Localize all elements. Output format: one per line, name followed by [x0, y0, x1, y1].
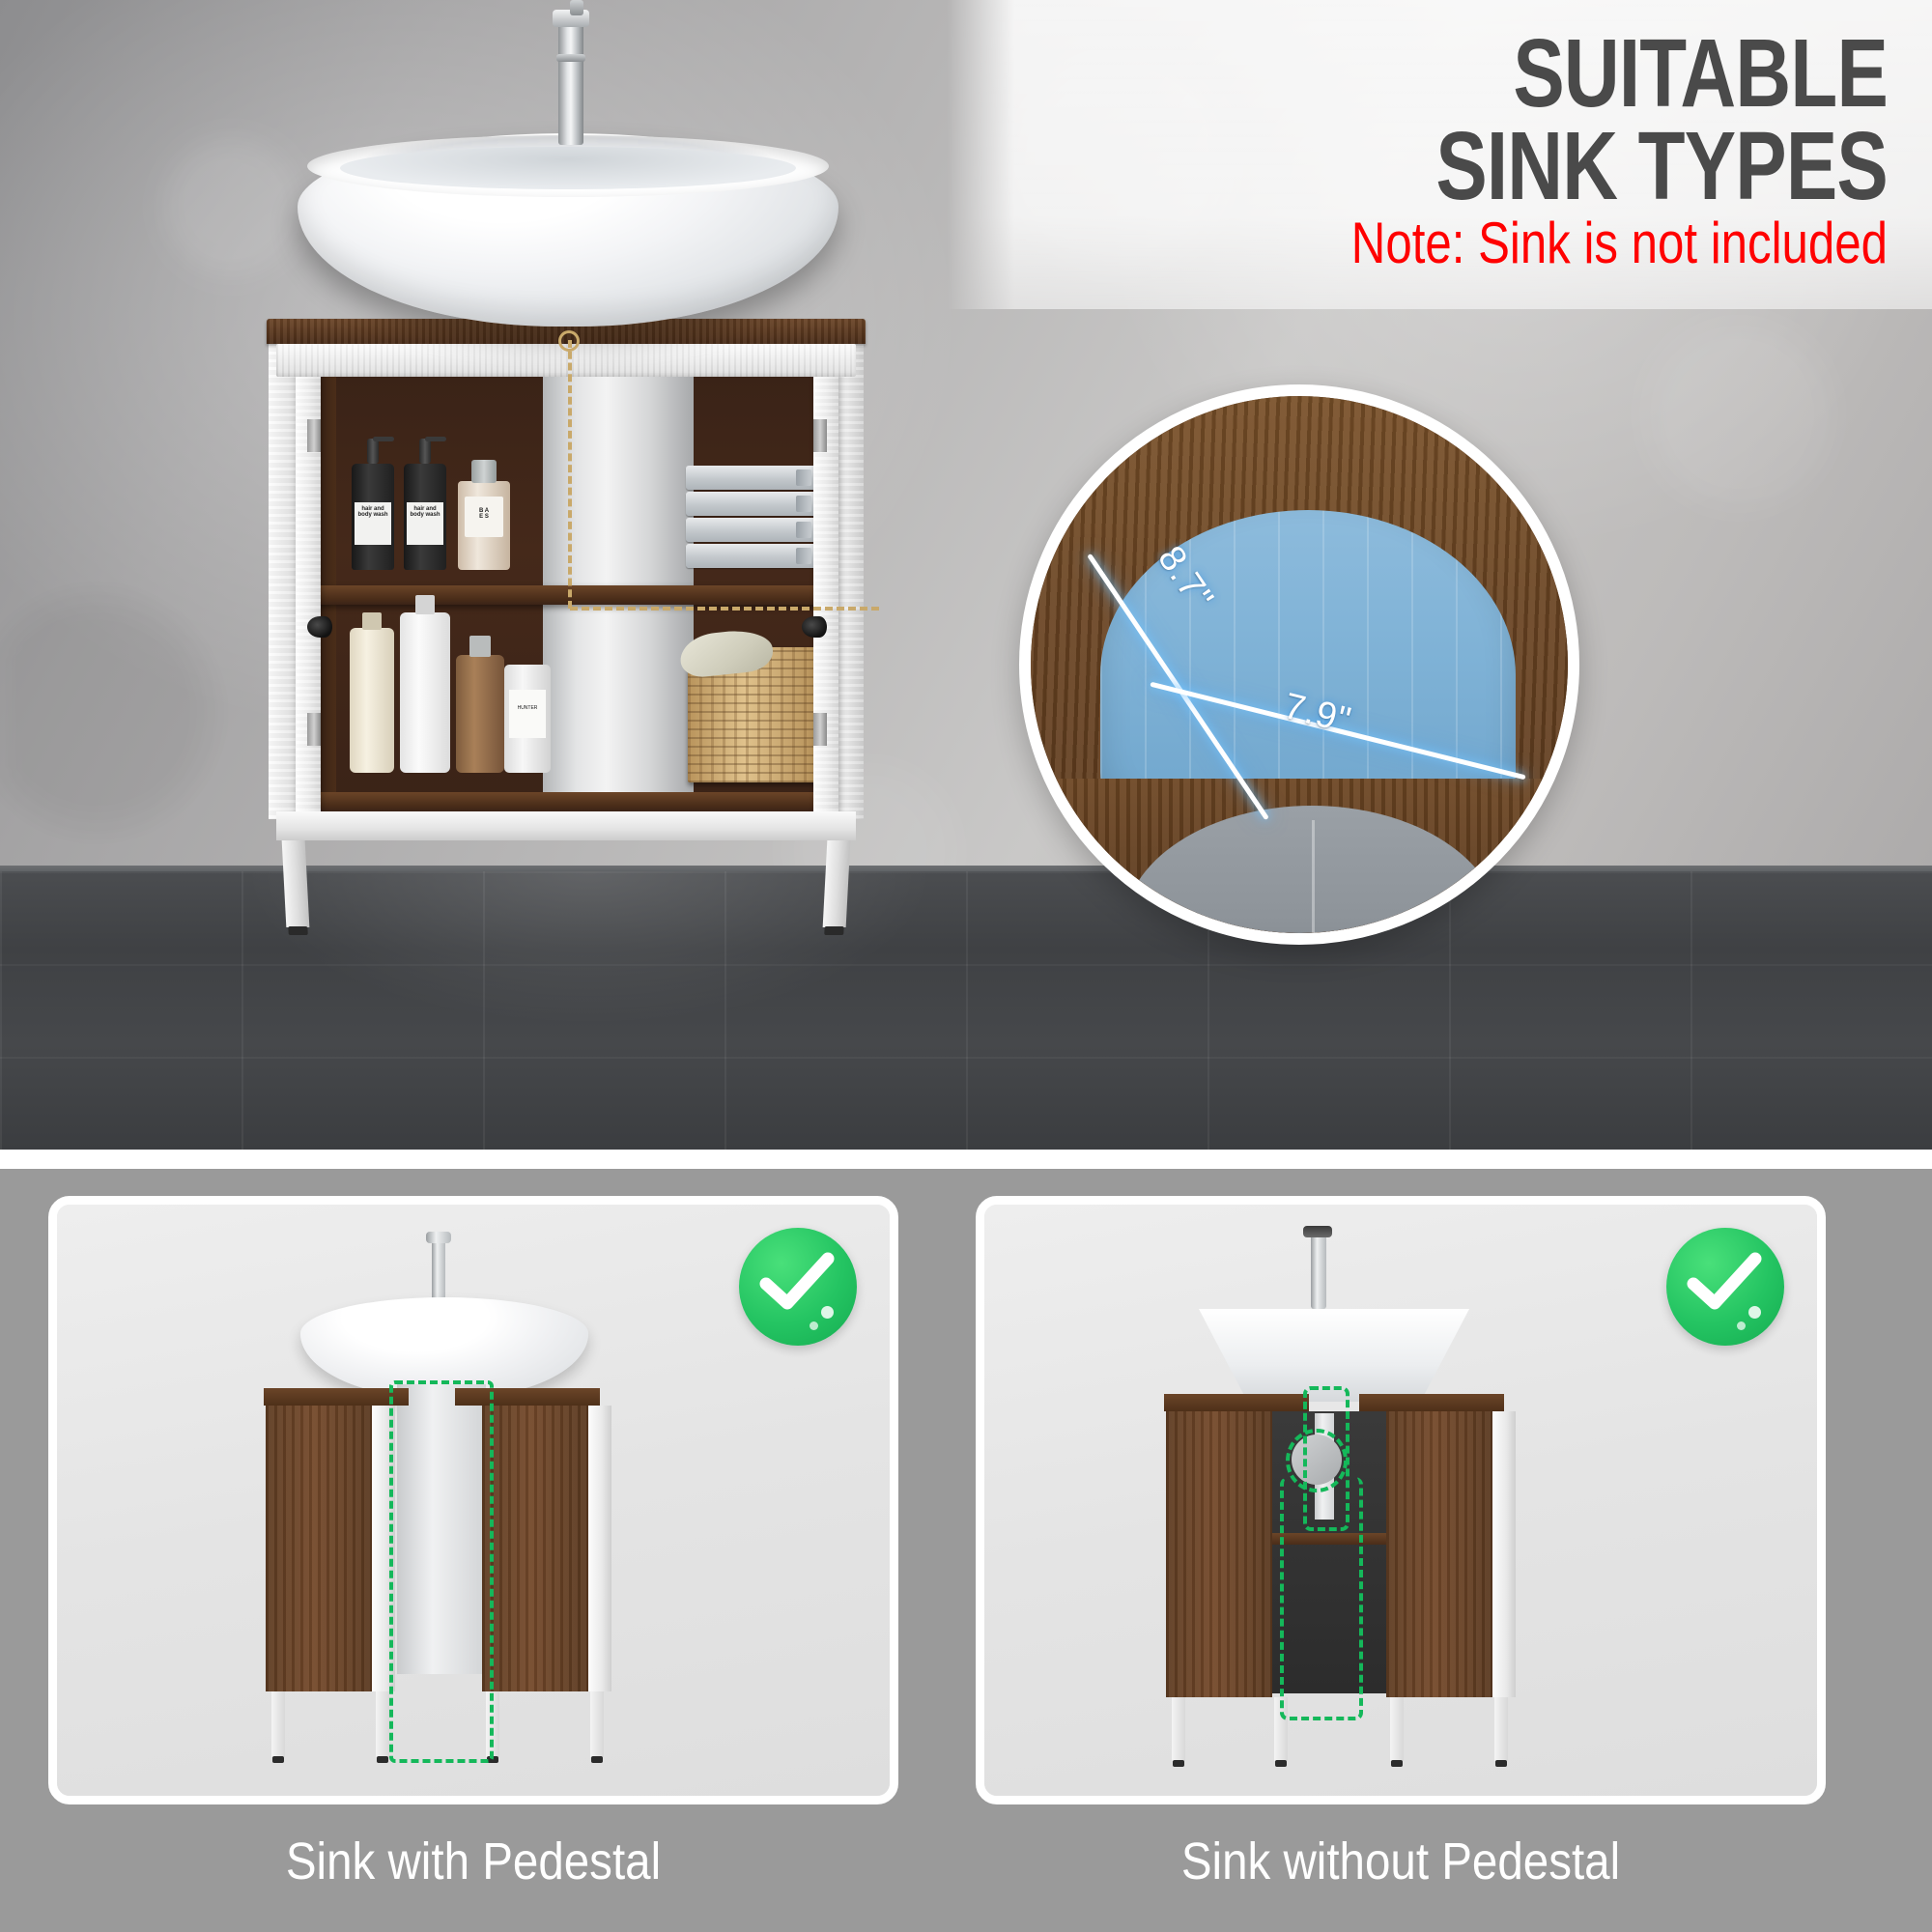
- bottle-hunter-2: [400, 612, 450, 773]
- towel-1: [686, 466, 819, 490]
- page-title: SUITABLE SINK TYPES: [1161, 27, 1888, 213]
- cabinet-door-left[interactable]: [296, 369, 321, 819]
- mini-door-left-left[interactable]: [266, 1406, 372, 1691]
- bottle-label-1: hair andbody wash: [355, 502, 391, 545]
- badge-dot-large-right: [1748, 1306, 1761, 1319]
- mini-leg-1-right: [1172, 1697, 1185, 1761]
- bottle-hunter-3: HUNTER: [504, 665, 551, 773]
- pump-head-2: [419, 439, 431, 464]
- mini-top-left-right: [1164, 1394, 1309, 1411]
- bottle-brown-lotion: [456, 655, 504, 773]
- bottle-hunter-1: [350, 628, 394, 773]
- title-line-1: SUITABLE: [1161, 27, 1888, 120]
- callout-clip: 8.7" 7.9": [1031, 396, 1568, 933]
- guide-line-vertical: [568, 340, 572, 609]
- faucet-ring: [556, 54, 585, 62]
- mini-leg-4-right: [1494, 1697, 1508, 1761]
- towel-4: [686, 544, 819, 568]
- faucet-handle[interactable]: [570, 0, 583, 15]
- mini-leg-1-left: [271, 1691, 285, 1757]
- mini-top-left-left: [264, 1388, 409, 1406]
- panel-sink-without-pedestal: [976, 1196, 1826, 1804]
- status-badge-check-right: [1666, 1228, 1784, 1346]
- hinge-right-top: [813, 419, 827, 452]
- comparison-section: Sink with Pedestal Sink without Pedestal: [0, 1159, 1932, 1932]
- middle-shelf: [303, 585, 829, 605]
- bottle-cap-3: [469, 636, 491, 657]
- candle-jar-label: B AE S: [465, 497, 503, 537]
- infographic-canvas: SUITABLE SINK TYPES Note: Sink is not in…: [0, 0, 1932, 1932]
- faucet-column: [558, 21, 583, 145]
- door-knob-left[interactable]: [307, 616, 332, 638]
- cabinet-interior: hair andbody wash hair andbody wash B AE…: [303, 375, 829, 811]
- vessel-sink-basin: [340, 147, 796, 189]
- caption-sink-without-pedestal: Sink without Pedestal: [1027, 1835, 1775, 1888]
- towel-2: [686, 492, 819, 516]
- bottle-label-2: hair andbody wash: [407, 502, 443, 545]
- disclaimer-note: Note: Sink is not included: [1143, 214, 1888, 272]
- mini-frame-right-right: [1492, 1411, 1516, 1697]
- mini-leg-4-left: [590, 1691, 604, 1757]
- bottle-label-hunter: HUNTER: [509, 690, 546, 738]
- pump-spout-1: [373, 437, 394, 441]
- hinge-left-bottom: [307, 713, 321, 746]
- guide-line-horizontal: [570, 607, 879, 611]
- mini-faucet-right: [1311, 1234, 1326, 1309]
- pump-head-1: [367, 439, 379, 464]
- mini-door-right-right[interactable]: [1386, 1411, 1492, 1697]
- mini-leg-2-left: [376, 1691, 389, 1757]
- panel-sink-with-pedestal: [48, 1196, 898, 1804]
- badge-dot-large-left: [821, 1306, 834, 1319]
- mini-door-right-left[interactable]: [482, 1406, 588, 1691]
- highlight-pedestal-clearance: [389, 1380, 494, 1763]
- highlight-plumbing-path: [1280, 1477, 1363, 1720]
- badge-dot-small-right: [1737, 1321, 1746, 1330]
- top-scene: SUITABLE SINK TYPES Note: Sink is not in…: [0, 0, 1932, 1150]
- candle-jar-lid: [471, 460, 497, 483]
- bottle-hair-body-wash-2: hair andbody wash: [404, 464, 446, 570]
- bottom-shelf: [303, 792, 829, 811]
- bottle-cap-2: [415, 595, 435, 614]
- pump-spout-2: [425, 437, 446, 441]
- title-line-2: SINK TYPES: [1161, 120, 1888, 213]
- status-badge-check-left: [739, 1228, 857, 1346]
- sink-cutout-dimension-callout: 8.7" 7.9": [1019, 384, 1579, 945]
- bottle-cap-1: [362, 612, 382, 630]
- mini-door-left-right[interactable]: [1166, 1411, 1272, 1697]
- cabinet-door-right[interactable]: [813, 369, 838, 819]
- badge-dot-small-left: [810, 1321, 818, 1330]
- door-knob-right[interactable]: [802, 616, 827, 638]
- hinge-left-top: [307, 419, 321, 452]
- candle-jar-baes: B AE S: [458, 481, 510, 570]
- vanity-cabinet: hair andbody wash hair andbody wash B AE…: [267, 319, 866, 927]
- mini-faucet-left: [432, 1239, 445, 1303]
- mini-top-right-right: [1359, 1394, 1504, 1411]
- caption-sink-with-pedestal: Sink with Pedestal: [99, 1835, 847, 1888]
- mini-faucet-spout-right: [1303, 1226, 1332, 1237]
- cabinet-leg-right: [823, 840, 851, 927]
- hinge-right-bottom: [813, 713, 827, 746]
- mini-faucet-spout-left: [426, 1232, 451, 1243]
- cabinet-bottom-rail: [276, 811, 856, 840]
- mini-leg-3-right: [1390, 1697, 1404, 1761]
- mini-frame-right-left: [588, 1406, 611, 1691]
- towel-3: [686, 518, 819, 542]
- bottle-hair-body-wash-1: hair andbody wash: [352, 464, 394, 570]
- cabinet-leg-left: [282, 840, 310, 927]
- towel-stack: [686, 466, 819, 570]
